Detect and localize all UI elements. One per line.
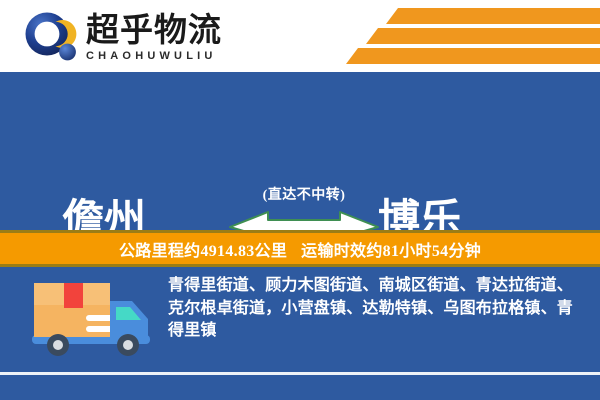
banner-header: 超乎物流 CHAOHUWULIU [0, 0, 600, 72]
info-bar: 公路里程约4914.83公里 运输时效约81小时54分钟 [0, 233, 600, 264]
brand-name-en: CHAOHUWULIU [86, 50, 222, 62]
banner-footer [0, 375, 600, 400]
orange-diagonal-stripes-icon [330, 6, 600, 68]
logistics-banner: 超乎物流 CHAOHUWULIU 儋州 (直达不中转) 【往返运输】 博乐 [0, 0, 600, 400]
coverage-section: 青得里街道、顾力木图街道、南城区街道、青达拉街道、克尔根卓街道，小营盘镇、达勒特… [0, 267, 600, 372]
brand-name-cn: 超乎物流 [86, 14, 222, 49]
route-section: 儋州 (直达不中转) 【往返运输】 博乐 [0, 72, 600, 228]
distance-label: 公路里程约4914.83公里 [119, 237, 287, 261]
direct-note-label: (直达不中转) [228, 184, 380, 204]
duration-label: 运输时效约81小时54分钟 [301, 237, 481, 261]
coverage-areas-text: 青得里街道、顾力木图街道、南城区街道、青达拉街道、克尔根卓街道，小营盘镇、达勒特… [168, 275, 586, 343]
delivery-truck-icon [28, 277, 156, 365]
circle-crescent-logo-icon [24, 10, 80, 66]
brand-text: 超乎物流 CHAOHUWULIU [86, 14, 222, 63]
brand-logo[interactable]: 超乎物流 CHAOHUWULIU [24, 10, 222, 66]
